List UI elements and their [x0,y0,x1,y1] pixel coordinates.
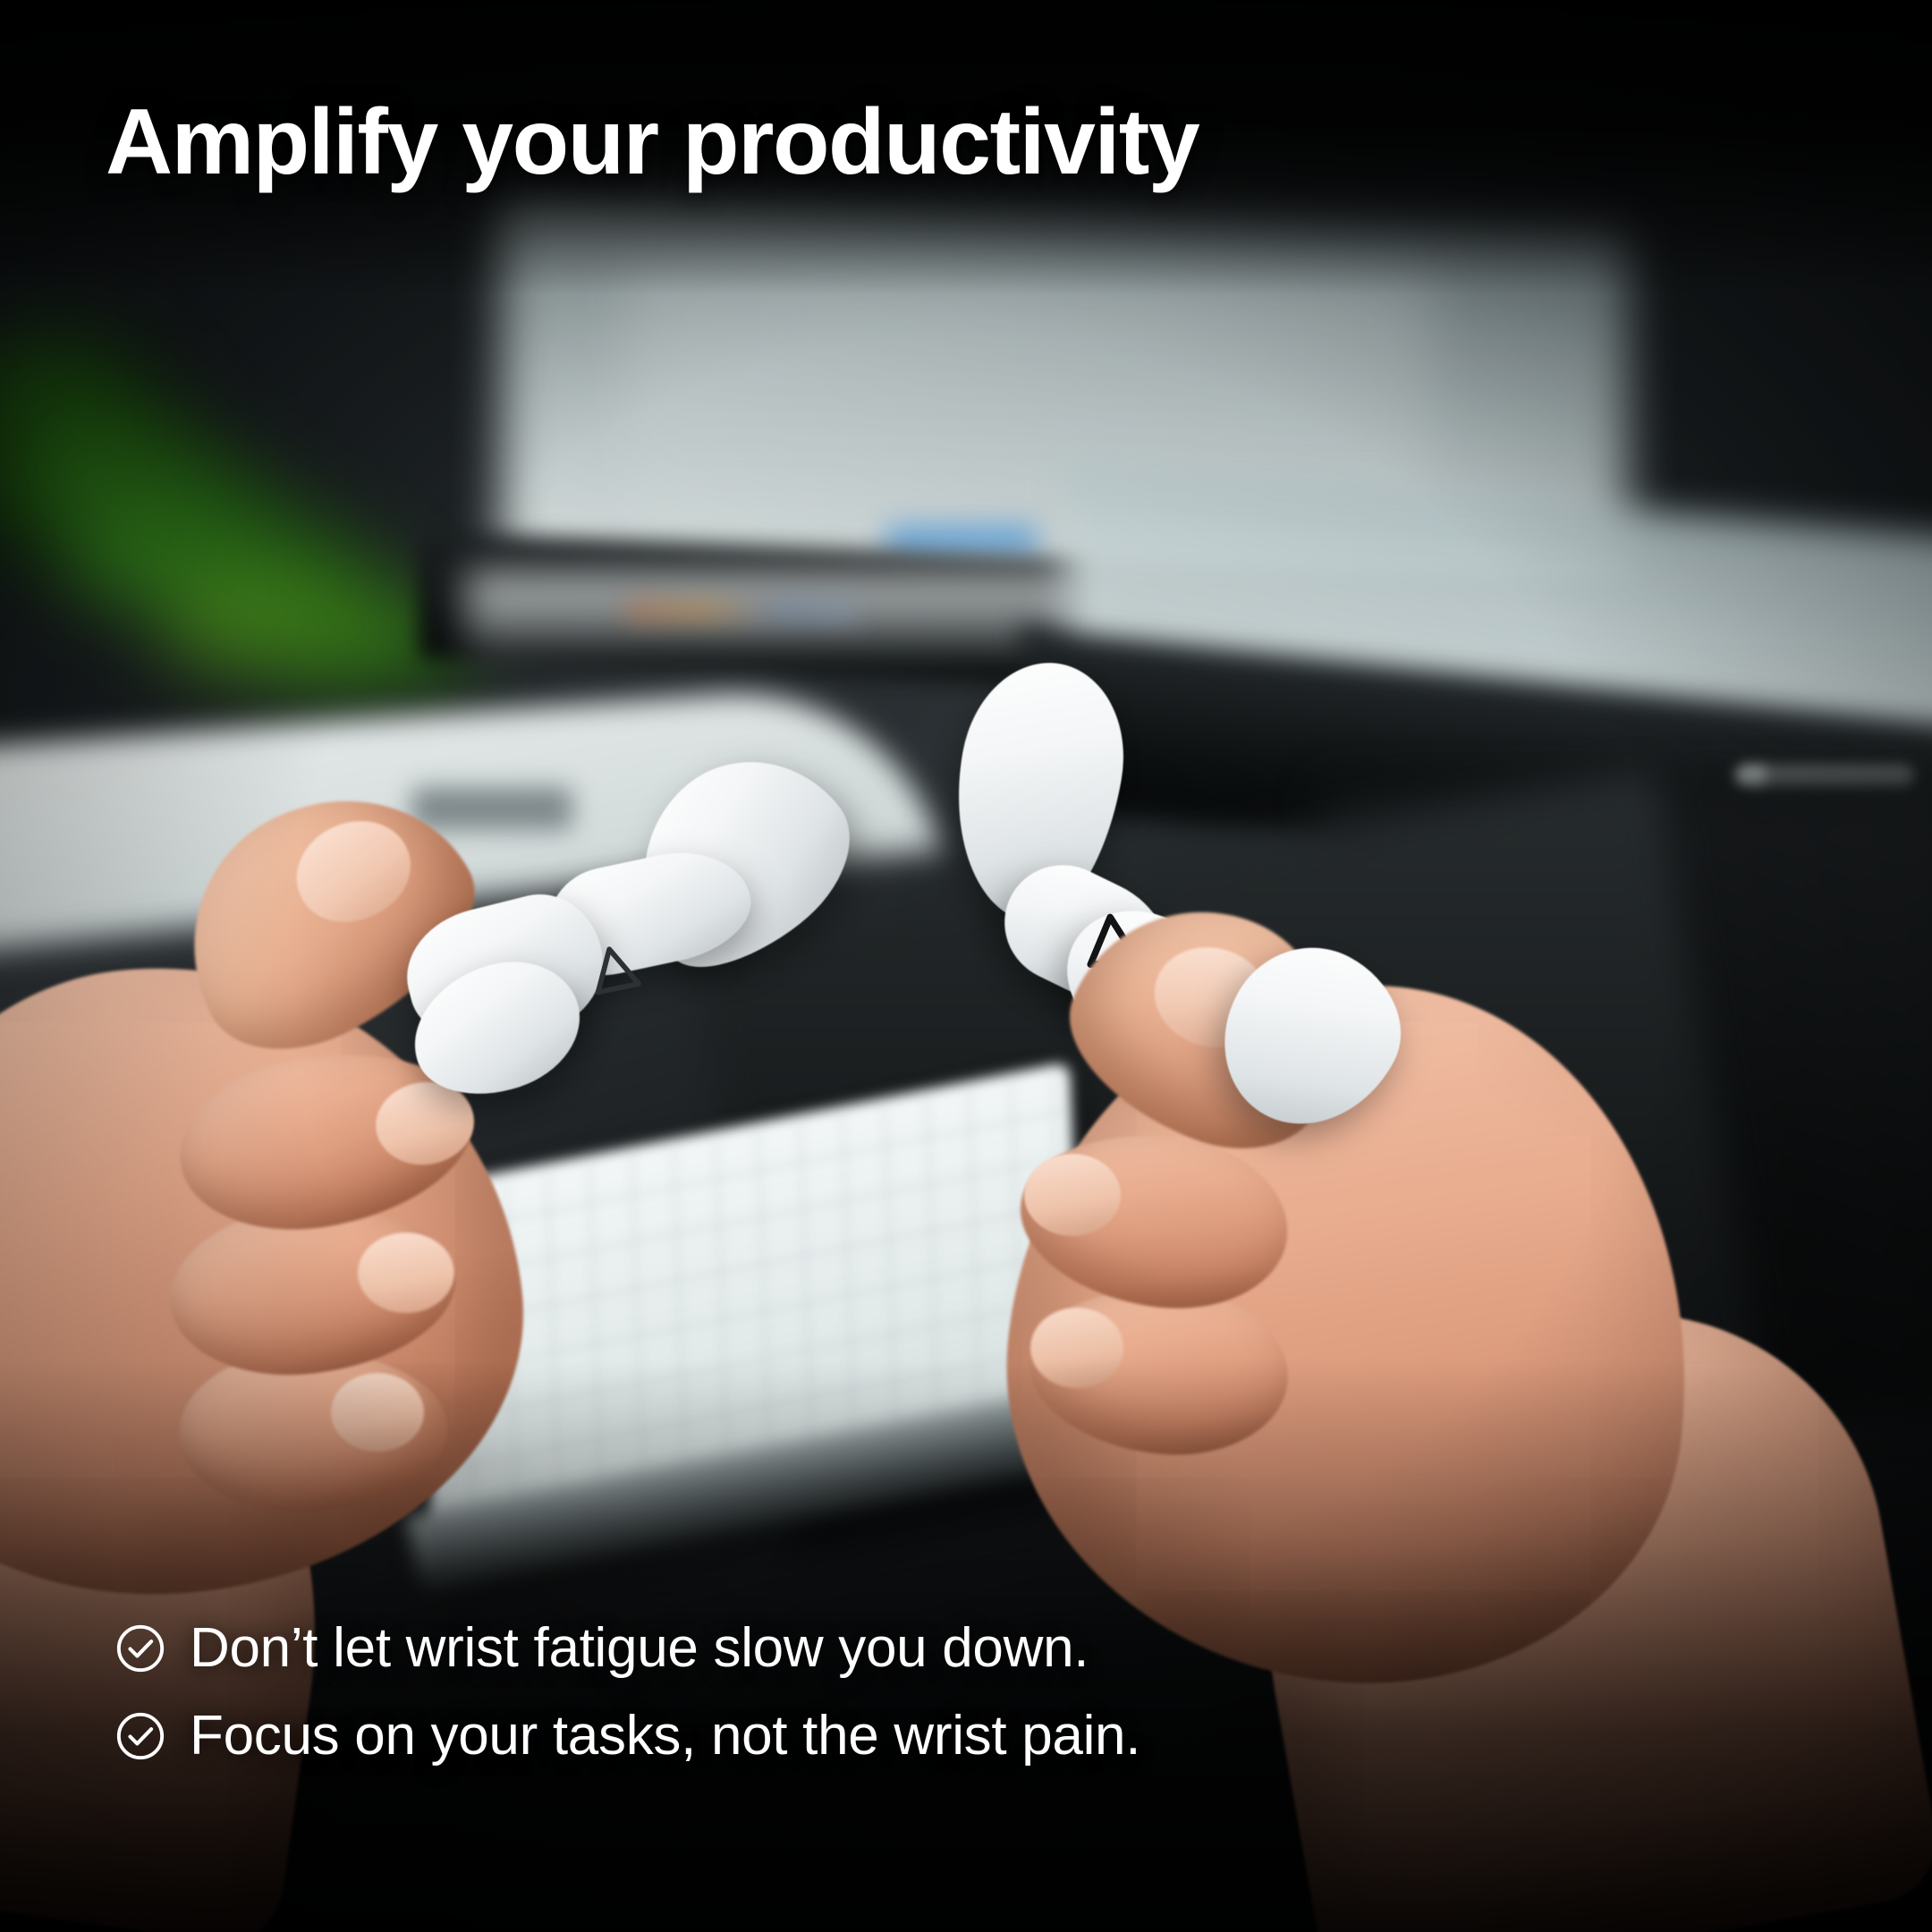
headline: Amplify your productivity [106,93,1199,191]
check-circle-icon [114,1623,166,1674]
right-fingernail [1024,1154,1121,1236]
monitor-toolbar-icons [626,601,859,621]
list-item: Focus on your tasks, not the wrist pain. [114,1708,1140,1764]
right-fingernail [1030,1308,1123,1388]
promo-image: Amplify your productivity Don’t let wris… [0,0,1932,1932]
benefits-list: Don’t let wrist fatigue slow you down. F… [114,1621,1140,1764]
left-fingernail [358,1233,454,1313]
list-item: Don’t let wrist fatigue slow you down. [114,1621,1140,1676]
check-circle-icon [114,1710,166,1762]
left-fingernail [331,1373,424,1452]
desk-surface-detail [411,787,572,830]
secondary-monitor-logo [1735,765,1914,788]
benefit-text: Focus on your tasks, not the wrist pain. [190,1708,1140,1764]
benefit-text: Don’t let wrist fatigue slow you down. [190,1621,1089,1676]
